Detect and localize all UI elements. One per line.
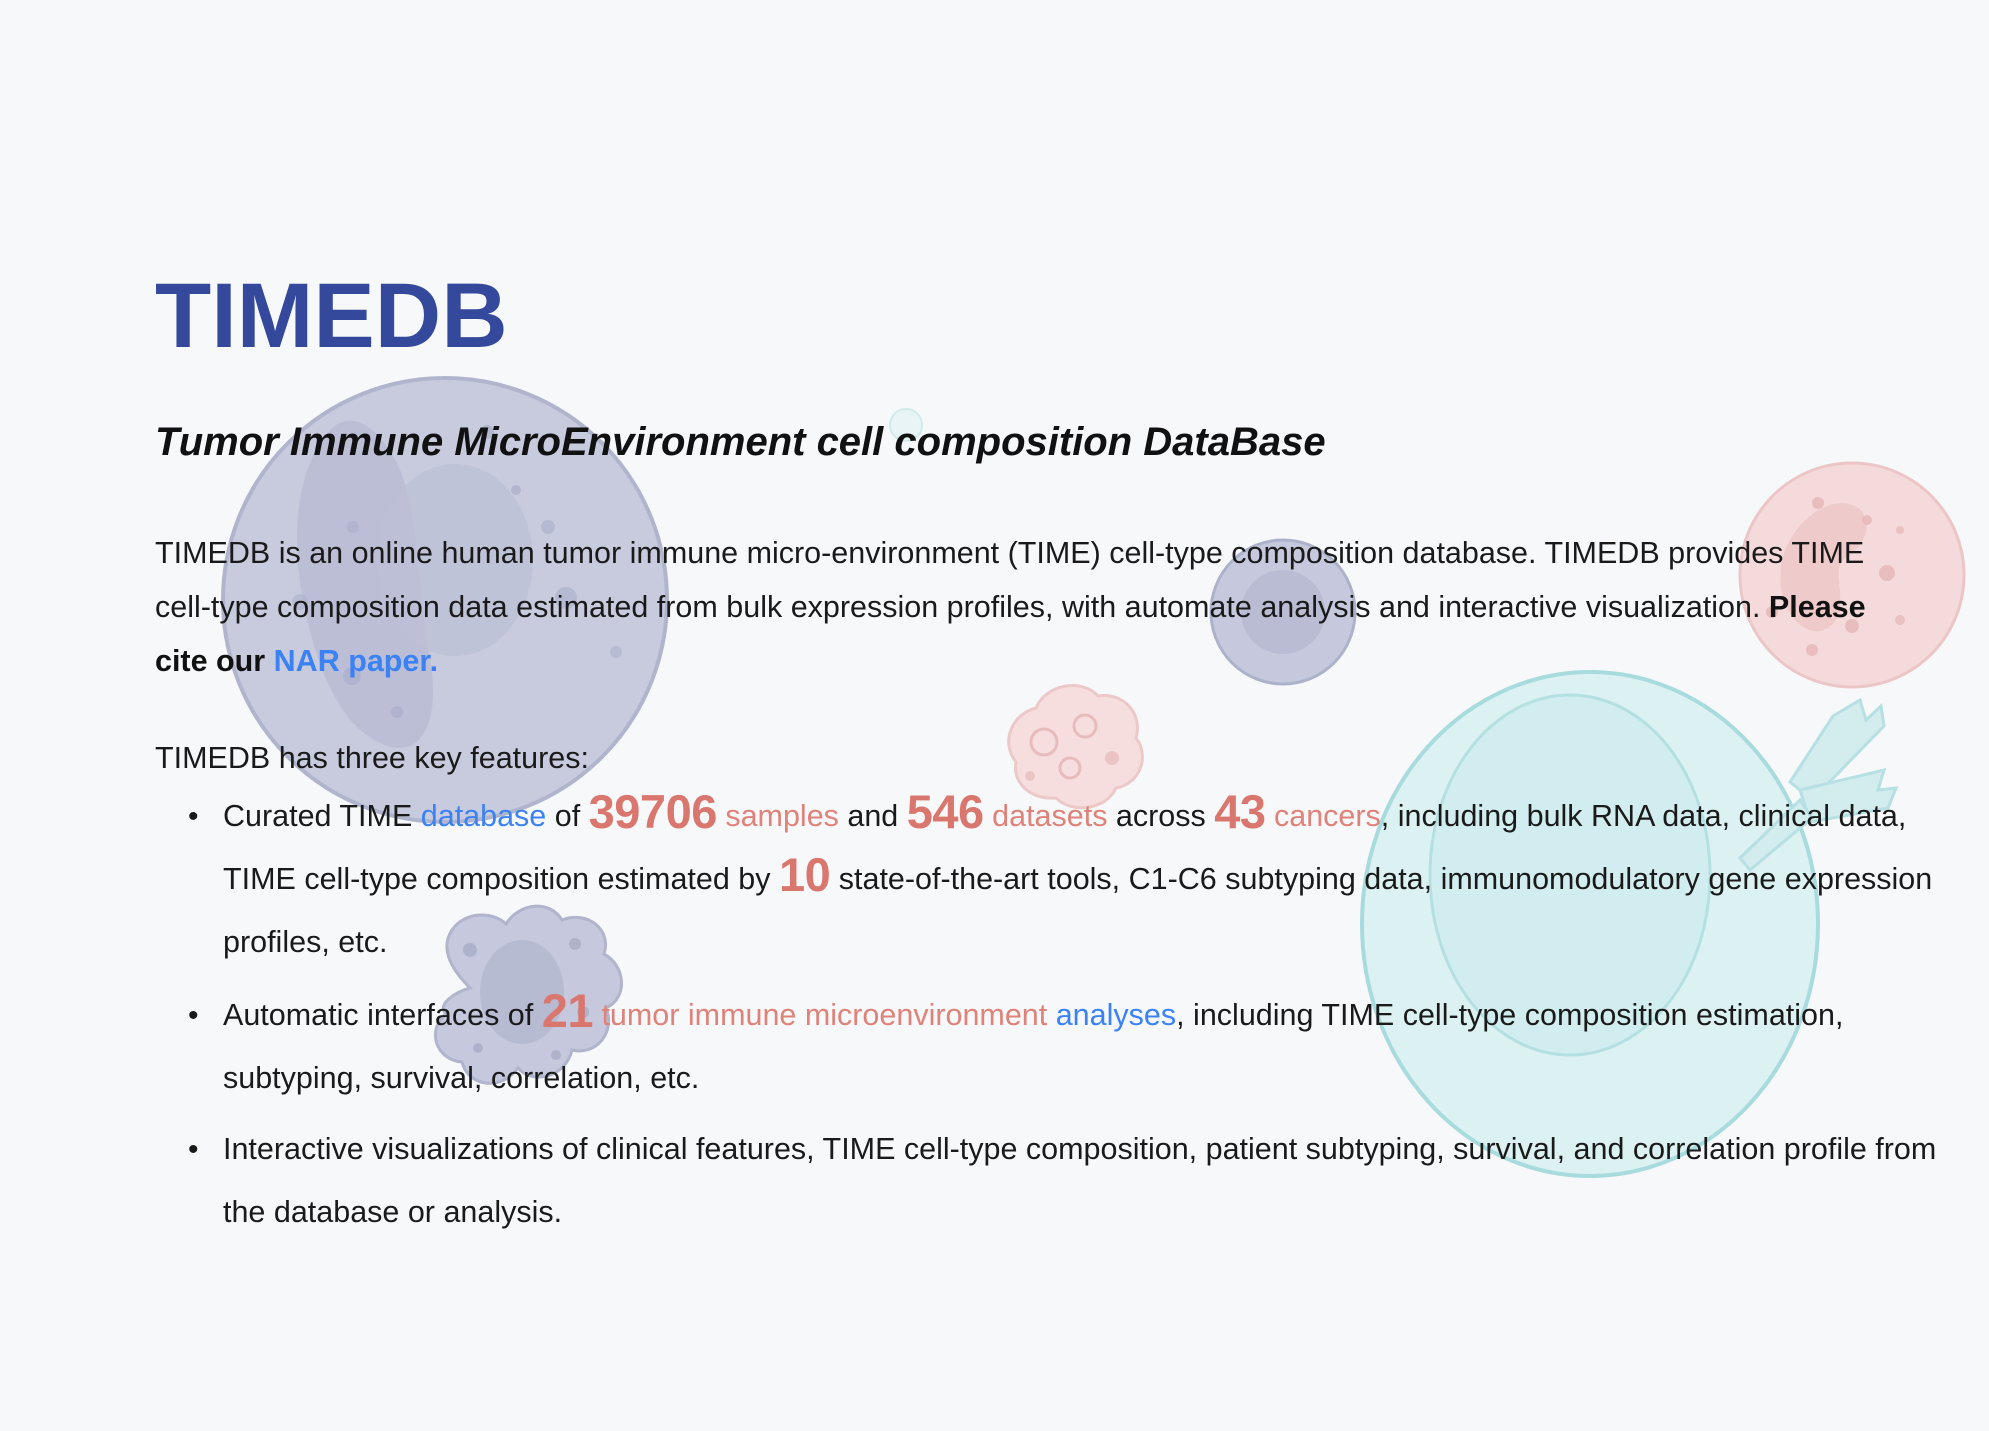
stat-cancers-count: 43: [1214, 785, 1265, 838]
feature1-seg3: and: [839, 799, 907, 833]
nar-paper-link[interactable]: NAR paper.: [274, 644, 438, 678]
stat-cancers-label: cancers: [1266, 799, 1381, 833]
features-list: Curated TIME database of 39706 samples a…: [155, 785, 1945, 1254]
intro-line-3: analysis and interactive visualization.: [1260, 590, 1769, 624]
stat-tools-count: 10: [779, 848, 830, 901]
feature2-seg1: Automatic interfaces of: [223, 998, 542, 1032]
feature1-seg2: of: [546, 799, 588, 833]
stat-samples-count: 39706: [589, 785, 717, 838]
feature1-seg4: across: [1107, 799, 1214, 833]
feature3-text: Interactive visualizations of clinical f…: [223, 1132, 1936, 1229]
intro-line-1: TIMEDB is an online human tumor immune m…: [155, 536, 1537, 570]
features-heading: TIMEDB has three key features:: [155, 731, 1855, 785]
list-item: Automatic interfaces of 21 tumor immune …: [155, 984, 1945, 1110]
stat-analyses-label: tumor immune microenvironment: [593, 998, 1056, 1032]
list-item: Interactive visualizations of clinical f…: [155, 1118, 1945, 1244]
stat-analyses-count: 21: [542, 984, 593, 1037]
stat-datasets-count: 546: [907, 785, 984, 838]
page-root: TIMEDB Tumor Immune MicroEnvironment cel…: [0, 0, 1989, 1431]
page-title: TIMEDB: [155, 270, 508, 362]
page-subtitle: Tumor Immune MicroEnvironment cell compo…: [155, 418, 1326, 466]
analyses-link[interactable]: analyses: [1056, 998, 1176, 1032]
database-link[interactable]: database: [421, 799, 547, 833]
list-item: Curated TIME database of 39706 samples a…: [155, 785, 1945, 974]
stat-datasets-label: datasets: [984, 799, 1108, 833]
stat-samples-label: samples: [717, 799, 839, 833]
intro-paragraph: TIMEDB is an online human tumor immune m…: [155, 526, 1875, 688]
feature1-seg1: Curated TIME: [223, 799, 421, 833]
